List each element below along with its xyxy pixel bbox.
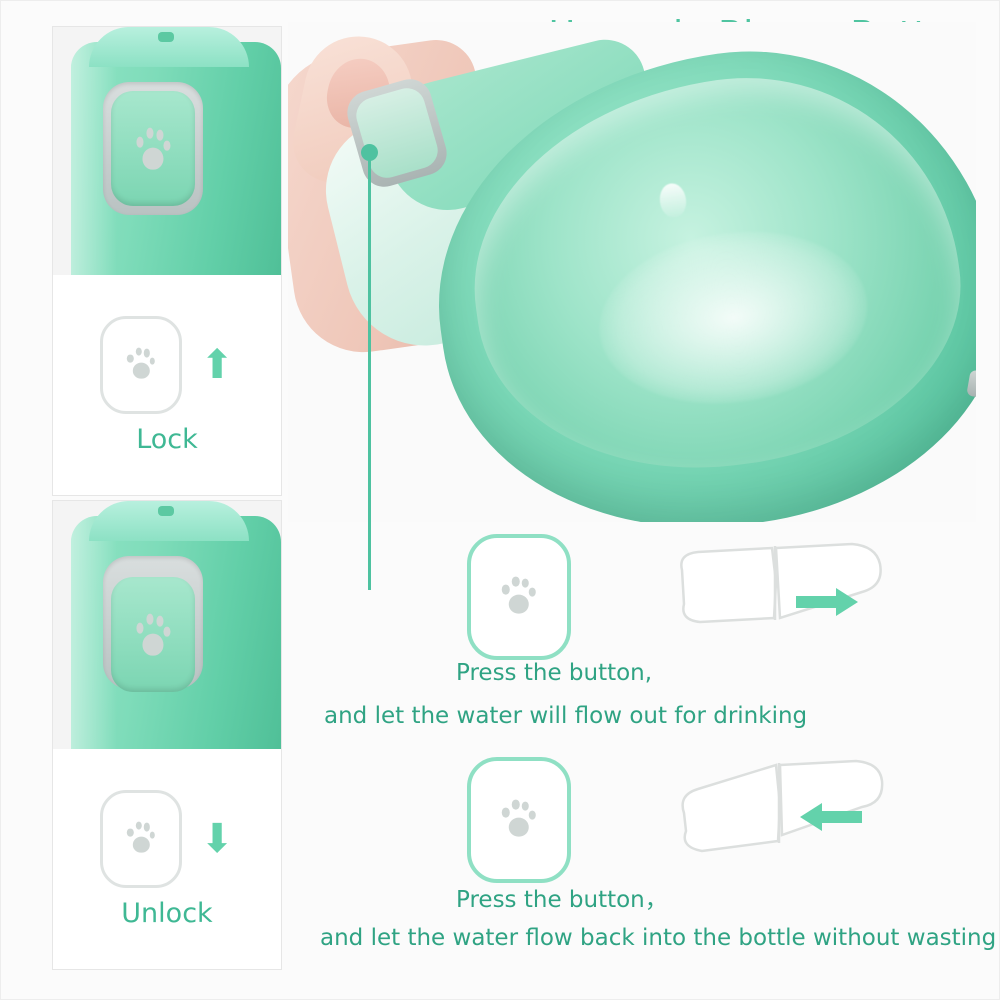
lock-label-area: ⬆ Lock	[53, 275, 281, 495]
instruction-line1-1: Press the button,	[456, 660, 652, 686]
arrow-up-icon: ⬆	[200, 345, 234, 385]
arrow-down-icon: ⬇	[200, 819, 234, 859]
instruction-line2-2: and let the water flow back into the bot…	[320, 925, 996, 951]
product-infographic: Upgrade Bigger Button	[0, 0, 1000, 1000]
hand-holding-bottle-photo	[288, 22, 976, 522]
unlock-label-area: ⬇ Unlock	[53, 749, 281, 969]
device-button-plate	[103, 82, 203, 216]
paw-icon	[135, 125, 172, 176]
instruction-line1-2: Press the button，	[456, 880, 668, 914]
nozzle	[966, 370, 976, 405]
lock-label: Lock	[136, 424, 198, 455]
device-button-plate	[103, 556, 203, 690]
flow-back-diagram	[676, 755, 891, 865]
unlock-device-photo	[53, 501, 281, 749]
unlock-panel: ⬇ Unlock	[52, 500, 282, 970]
lock-panel: ⬆ Lock	[52, 26, 282, 496]
instruction-button-icon-2	[467, 757, 571, 883]
instruction-line2-1: and let the water will flow out for drin…	[324, 703, 807, 729]
lock-device-photo	[53, 27, 281, 275]
unlock-label: Unlock	[121, 898, 212, 929]
unlock-button-outline-icon	[100, 790, 182, 888]
instruction-button-icon-1	[467, 534, 571, 660]
flow-out-diagram	[676, 534, 891, 644]
lock-button-outline-icon	[100, 316, 182, 414]
paw-icon	[135, 612, 172, 663]
callout-line	[368, 150, 371, 590]
